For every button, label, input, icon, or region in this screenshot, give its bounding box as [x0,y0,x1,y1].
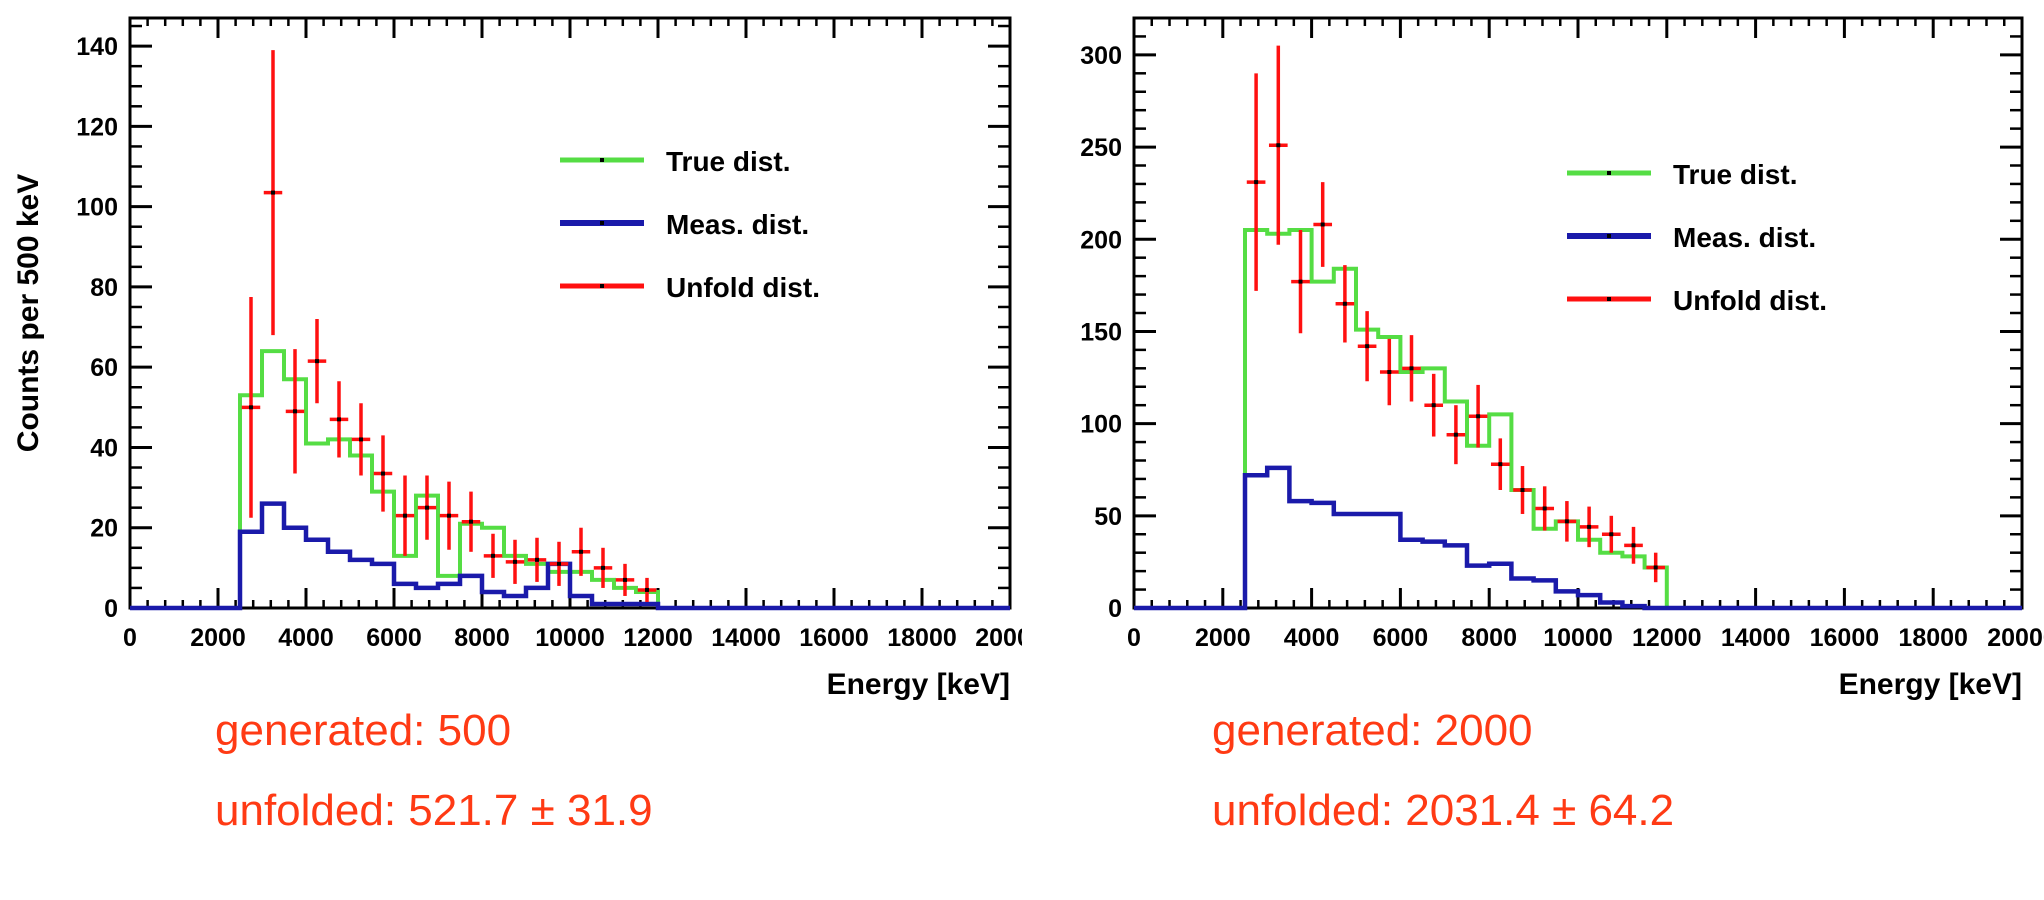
plot-left: 0200040006000800010000120001400016000180… [0,0,1022,900]
y-tick-label: 250 [1080,134,1122,162]
legend-label-meas-dist: Meas. dist. [666,209,809,240]
legend-label-true-dist: True dist. [666,146,790,177]
annotation-generated: generated: 500 [215,706,511,755]
x-tick-label: 12000 [1632,624,1702,652]
histogram-true-dist [1134,230,2022,608]
legend-label-unfold-dist: Unfold dist. [666,272,820,303]
x-tick-label: 20000 [975,624,1022,652]
x-tick-label: 6000 [1373,624,1429,652]
y-axis: 050100150200250300 [1080,18,2022,623]
x-tick-label: 14000 [711,624,781,652]
x-tick-label: 2000 [1195,624,1251,652]
y-tick-label: 120 [76,113,118,141]
x-tick-label: 18000 [887,624,957,652]
x-tick-label: 18000 [1898,624,1968,652]
y-tick-label: 0 [1108,595,1122,623]
x-tick-label: 4000 [1284,624,1340,652]
x-tick-label: 8000 [1461,624,1517,652]
x-tick-label: 8000 [454,624,510,652]
legend: True dist.Meas. dist.Unfold dist. [560,146,820,303]
legend-marker-dot [1607,297,1611,301]
legend-marker-dot [600,284,604,288]
x-tick-label: 0 [1127,624,1141,652]
y-tick-label: 200 [1080,226,1122,254]
y-tick-label: 150 [1080,318,1122,346]
legend: True dist.Meas. dist.Unfold dist. [1567,159,1827,316]
annotation-unfolded: unfolded: 2031.4 ± 64.2 [1212,786,1674,835]
legend-label-unfold-dist: Unfold dist. [1673,285,1827,316]
y-tick-label: 100 [1080,411,1122,439]
y-tick-label: 50 [1094,503,1122,531]
errorbars-unfold-dist [242,50,656,602]
x-tick-label: 16000 [799,624,869,652]
legend-marker-dot [1607,171,1611,175]
x-tick-label: 20000 [1987,624,2044,652]
legend-marker-dot [1607,234,1611,238]
x-axis: 0200040006000800010000120001400016000180… [1127,18,2044,652]
x-tick-label: 10000 [1543,624,1613,652]
y-axis: 020406080100120140 [76,26,1010,623]
x-tick-label: 16000 [1810,624,1880,652]
y-axis-title: Counts per 500 keV [12,174,45,452]
x-tick-label: 14000 [1721,624,1791,652]
y-tick-label: 100 [76,194,118,222]
x-axis-title: Energy [keV] [827,668,1010,701]
annotation-generated: generated: 2000 [1212,706,1533,755]
x-tick-label: 10000 [535,624,605,652]
panel-right: 0200040006000800010000120001400016000180… [1022,0,2044,900]
legend-label-true-dist: True dist. [1673,159,1797,190]
x-tick-label: 4000 [278,624,334,652]
panel-left: 0200040006000800010000120001400016000180… [0,0,1022,900]
x-tick-label: 12000 [623,624,693,652]
x-axis: 0200040006000800010000120001400016000180… [123,18,1022,652]
y-tick-label: 80 [90,274,118,302]
y-tick-label: 140 [76,33,118,61]
legend-label-meas-dist: Meas. dist. [1673,222,1816,253]
plot-right: 0200040006000800010000120001400016000180… [1022,0,2044,900]
y-tick-label: 20 [90,515,118,543]
x-tick-label: 6000 [366,624,422,652]
annotation-unfolded: unfolded: 521.7 ± 31.9 [215,786,653,835]
legend-marker-dot [600,221,604,225]
y-tick-label: 300 [1080,42,1122,70]
y-tick-label: 60 [90,354,118,382]
x-axis-title: Energy [keV] [1839,668,2022,701]
histogram-meas-dist [130,504,1010,608]
x-tick-label: 0 [123,624,137,652]
y-tick-label: 0 [104,595,118,623]
figure-root: 0200040006000800010000120001400016000180… [0,0,2044,900]
y-tick-label: 40 [90,434,118,462]
legend-marker-dot [600,158,604,162]
x-tick-label: 2000 [190,624,246,652]
